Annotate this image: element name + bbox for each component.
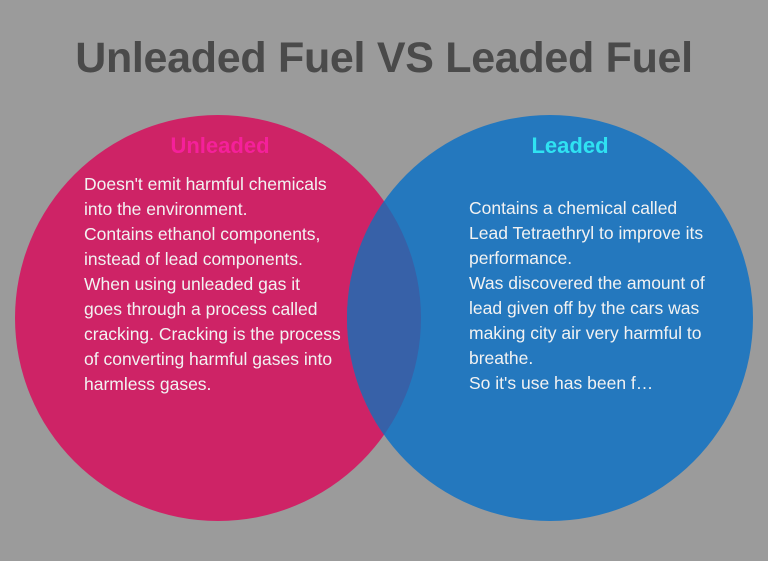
leaded-body-text: Contains a chemical called Lead Tetraeth… (469, 196, 719, 396)
unleaded-circle-label: Unleaded (0, 135, 440, 157)
page-title: Unleaded Fuel VS Leaded Fuel (0, 36, 768, 81)
unleaded-body-text: Doesn't emit harmful chemicals into the … (84, 172, 342, 397)
venn-diagram-slide: Unleaded Fuel VS Leaded Fuel Unleaded Le… (0, 0, 768, 561)
leaded-circle-label: Leaded (405, 135, 735, 157)
